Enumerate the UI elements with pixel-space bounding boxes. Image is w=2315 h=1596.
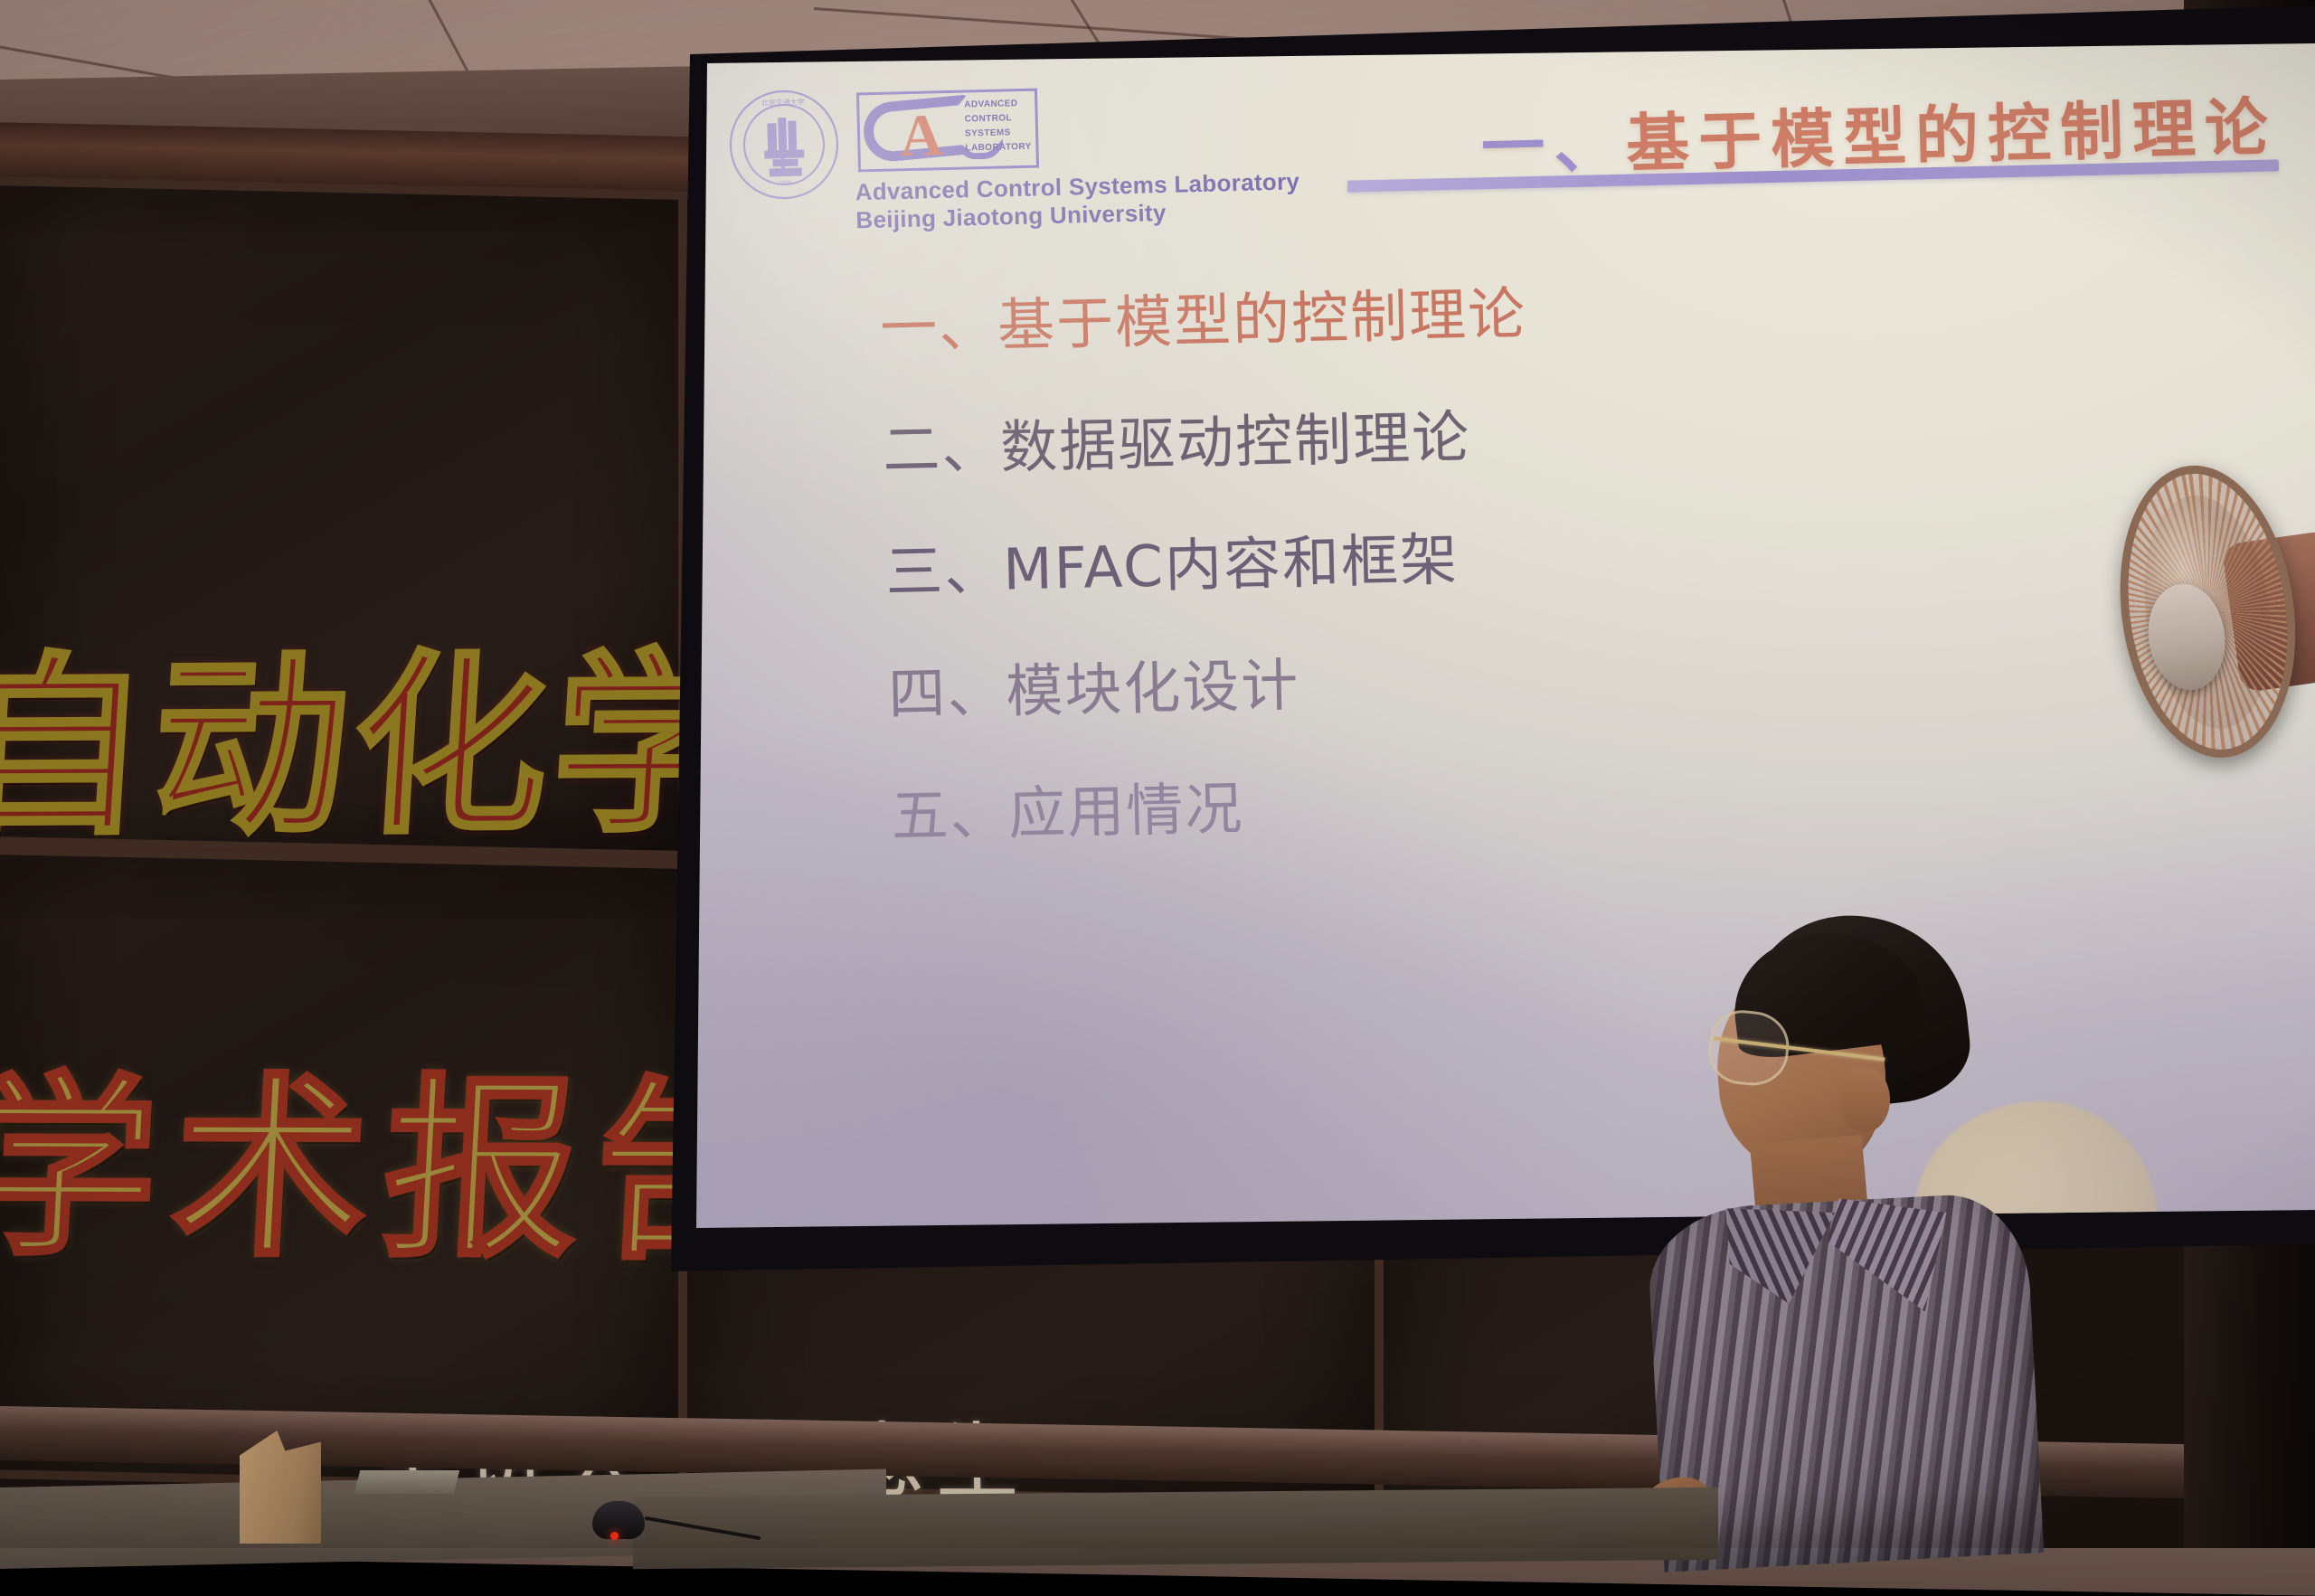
outline-item-label: 基于模型的控制理论 xyxy=(997,280,1527,358)
outline-item-number: 一、 xyxy=(879,293,998,362)
chalk-eraser xyxy=(354,1470,459,1494)
svg-text:1896: 1896 xyxy=(778,180,792,186)
outline-item-number: 四、 xyxy=(888,659,1007,728)
outline-item-1[interactable]: 一、基于模型的控制理论 xyxy=(879,275,1965,356)
computer-mouse[interactable] xyxy=(592,1501,645,1539)
presenter-ear xyxy=(1841,1067,1890,1132)
lecture-room: 自动化学院 学术报告 主讲人：侯忠生 1896 北京交通大学 A xyxy=(0,0,2315,1548)
acsl-mark-microtext: ADVANCED CONTROL SYSTEMS LABORATORY xyxy=(964,97,1038,156)
outline-item-number: 二、 xyxy=(882,415,1001,484)
outline-item-2[interactable]: 二、数据驱动控制理论 xyxy=(883,397,1969,478)
acsl-mark-line: ADVANCED xyxy=(964,97,1036,113)
cardboard-box xyxy=(240,1431,321,1544)
lab-affiliation-caption: Advanced Control Systems Laboratory Beij… xyxy=(855,167,1326,235)
university-seal-icon: 1896 北京交通大学 xyxy=(726,87,842,203)
acsl-logo-box: A ADVANCED CONTROL SYSTEMS LABORATORY xyxy=(856,89,1039,173)
slide-title-number: 一、 xyxy=(1480,107,1627,184)
outline-item-label: 模块化设计 xyxy=(1006,652,1301,724)
outline-item-label: 数据驱动控制理论 xyxy=(999,404,1471,481)
svg-text:北京交通大学: 北京交通大学 xyxy=(761,97,805,107)
presenter xyxy=(1664,913,2053,1548)
acsl-mark-line: SYSTEMS xyxy=(965,126,1037,142)
acsl-mark-line: LABORATORY xyxy=(965,140,1037,156)
outline-item-label: 应用情况 xyxy=(1008,776,1245,847)
outline-item-4[interactable]: 四、模块化设计 xyxy=(888,641,1974,722)
outline-item-number: 三、 xyxy=(885,537,1005,606)
projection-screen[interactable]: 1896 北京交通大学 A ADVANCED CONTROL SYSTEMS L… xyxy=(696,43,2315,1228)
slide-outline-list: 一、基于模型的控制理论 二、数据驱动控制理论 三、MFAC内容和框架 四、模块化… xyxy=(879,275,1978,910)
outline-item-3[interactable]: 三、MFAC内容和框架 xyxy=(885,519,1971,600)
outline-item-label: MFAC内容和框架 xyxy=(1002,526,1459,602)
acsl-mark-line: CONTROL xyxy=(965,111,1037,127)
outline-item-number: 五、 xyxy=(891,781,1010,850)
lectern-desk-right xyxy=(633,1487,1718,1569)
outline-item-5[interactable]: 五、应用情况 xyxy=(891,763,1977,845)
acsl-letter-a: A xyxy=(899,108,943,165)
